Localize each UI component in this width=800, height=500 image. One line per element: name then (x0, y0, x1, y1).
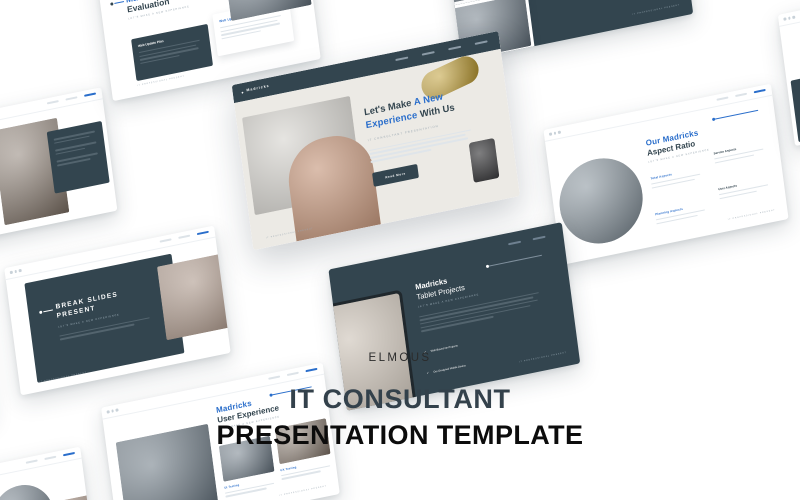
caption-block: ELMOUS IT CONSULTANT PRESENTATION TEMPLA… (0, 352, 800, 449)
slide-nav[interactable] (508, 236, 545, 246)
slide-about-it-consultation[interactable]: About IT Consultation LET'S MAKE A NEW E… (0, 87, 117, 252)
hero-paragraph (369, 124, 498, 163)
slide-photo-circle (554, 151, 647, 251)
brand-name: ELMOUS (0, 352, 800, 364)
slide-we-are-madricks[interactable]: We Are Madricks LET'S MAKE A NEW EXPERIE… (778, 0, 800, 146)
slide-madricks-mission[interactable]: Madricks Mission LET'S MAKE A NEW EXPERI… (0, 447, 97, 500)
slide-footer: IT Professional Present (726, 197, 776, 225)
accent-block (791, 59, 800, 143)
page-title-line-1: IT CONSULTANT (0, 386, 800, 413)
accent-rule (43, 310, 53, 313)
slide-our-madricks-aspect-ratio[interactable]: Our Madricks Aspect Ratio LET'S MAKE A N… (543, 84, 788, 265)
bullet-dot-icon (39, 311, 42, 315)
slide-footer: IT Professional Present (631, 0, 681, 20)
page-title-line-2: PRESENTATION TEMPLATE (0, 422, 800, 449)
progress-dot-icon (486, 264, 489, 268)
hero-logo: Madricks (246, 84, 270, 93)
logo-mark-icon: ✦ (240, 90, 244, 96)
slide-feature-chip (47, 121, 110, 194)
slide-photo-circle-1 (0, 476, 61, 500)
bullet-dot-icon (110, 2, 113, 6)
window-dots-icon (549, 131, 561, 136)
slide-body: Our Madricks Aspect Ratio LET'S MAKE A N… (545, 95, 789, 265)
slide-paragraph (59, 317, 150, 340)
progress-dot-icon (712, 117, 715, 121)
window-dots-icon (10, 269, 22, 274)
accent-rule (114, 1, 124, 4)
window-dots-icon (783, 16, 795, 21)
chip-lines (47, 121, 108, 178)
slide-body: About IT Consultation LET'S MAKE A NEW E… (0, 98, 117, 252)
progress-rule (713, 110, 758, 120)
presentation-template-mockup: About IT Consultation LET'S MAKE A NEW E… (0, 0, 800, 500)
